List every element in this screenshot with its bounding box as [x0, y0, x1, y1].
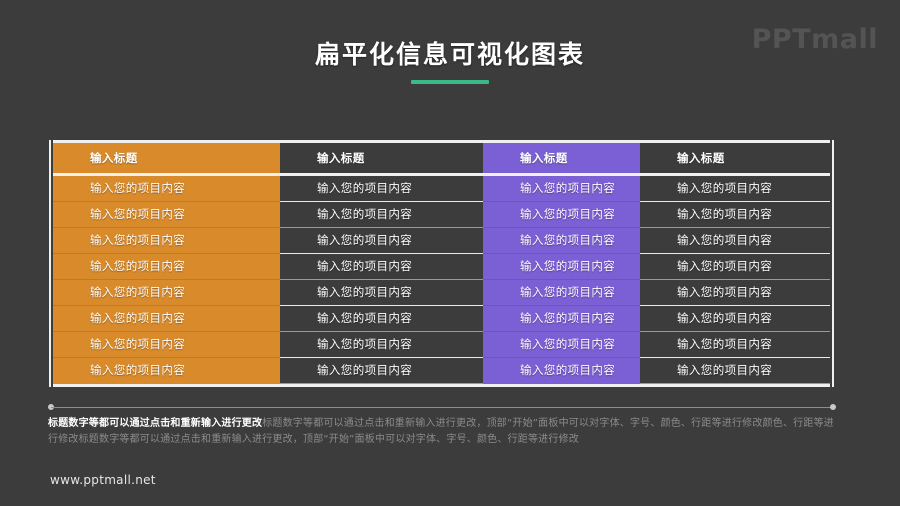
table-cell-text: 输入您的项目内容 — [640, 358, 830, 383]
footer-note-lead: 标题数字等都可以通过点击和重新输入进行更改 — [48, 418, 262, 429]
table-cell[interactable]: 输入您的项目内容 — [483, 280, 640, 306]
table-cell[interactable]: 输入您的项目内容 — [53, 280, 280, 306]
table-row[interactable]: 输入您的项目内容输入您的项目内容输入您的项目内容输入您的项目内容 — [53, 280, 830, 306]
table-cell-text: 输入您的项目内容 — [280, 332, 483, 357]
table-cell[interactable]: 输入您的项目内容 — [640, 306, 830, 332]
table-cell-text: 输入您的项目内容 — [483, 332, 640, 357]
table-cell[interactable]: 输入您的项目内容 — [53, 202, 280, 228]
table-cell[interactable]: 输入您的项目内容 — [483, 254, 640, 280]
page-title: 扁平化信息可视化图表 — [0, 40, 900, 70]
table-cell[interactable]: 输入您的项目内容 — [280, 306, 483, 332]
table-row[interactable]: 输入您的项目内容输入您的项目内容输入您的项目内容输入您的项目内容 — [53, 175, 830, 202]
table-cell[interactable]: 输入您的项目内容 — [53, 332, 280, 358]
table-cell[interactable]: 输入您的项目内容 — [483, 228, 640, 254]
table-row[interactable]: 输入您的项目内容输入您的项目内容输入您的项目内容输入您的项目内容 — [53, 332, 830, 358]
table-cell-text: 输入您的项目内容 — [483, 254, 640, 279]
divider-dot-right — [830, 404, 836, 410]
title-block: 扁平化信息可视化图表 — [0, 40, 900, 84]
table-cell-text: 输入您的项目内容 — [53, 306, 280, 331]
table-cell-text: 输入您的项目内容 — [483, 176, 640, 201]
table-header-label: 输入标题 — [483, 143, 640, 173]
table-cell-text: 输入您的项目内容 — [640, 176, 830, 201]
table-cell-text: 输入您的项目内容 — [640, 254, 830, 279]
table-cell[interactable]: 输入您的项目内容 — [640, 228, 830, 254]
table-cell[interactable]: 输入您的项目内容 — [53, 228, 280, 254]
table-row[interactable]: 输入您的项目内容输入您的项目内容输入您的项目内容输入您的项目内容 — [53, 358, 830, 384]
site-url: www.pptmall.net — [50, 473, 156, 487]
table-cell-text: 输入您的项目内容 — [483, 280, 640, 305]
table-cell[interactable]: 输入您的项目内容 — [53, 254, 280, 280]
table-cell[interactable]: 输入您的项目内容 — [280, 358, 483, 384]
table-cell[interactable]: 输入您的项目内容 — [640, 358, 830, 384]
table-row[interactable]: 输入您的项目内容输入您的项目内容输入您的项目内容输入您的项目内容 — [53, 306, 830, 332]
table-cell[interactable]: 输入您的项目内容 — [280, 228, 483, 254]
table-cell[interactable]: 输入您的项目内容 — [640, 254, 830, 280]
table-cell[interactable]: 输入您的项目内容 — [53, 358, 280, 384]
table-cell-text: 输入您的项目内容 — [640, 306, 830, 331]
table-cell[interactable]: 输入您的项目内容 — [53, 175, 280, 202]
title-underline — [411, 80, 489, 84]
table-header-label: 输入标题 — [53, 143, 280, 173]
table-cell-text: 输入您的项目内容 — [280, 228, 483, 253]
table-cell-text: 输入您的项目内容 — [483, 202, 640, 227]
table-cell-text: 输入您的项目内容 — [280, 358, 483, 383]
table-cell-text: 输入您的项目内容 — [640, 332, 830, 357]
table-header-cell: 输入标题 — [483, 143, 640, 175]
table-cell[interactable]: 输入您的项目内容 — [483, 358, 640, 384]
divider-line — [51, 407, 833, 408]
table: 输入标题输入标题输入标题输入标题输入您的项目内容输入您的项目内容输入您的项目内容… — [53, 143, 830, 384]
table-cell[interactable]: 输入您的项目内容 — [280, 202, 483, 228]
table-cell-text: 输入您的项目内容 — [483, 306, 640, 331]
table-row[interactable]: 输入您的项目内容输入您的项目内容输入您的项目内容输入您的项目内容 — [53, 254, 830, 280]
table-cell[interactable]: 输入您的项目内容 — [640, 175, 830, 202]
table-cell[interactable]: 输入您的项目内容 — [483, 202, 640, 228]
table-cell-text: 输入您的项目内容 — [280, 176, 483, 201]
table-header-label: 输入标题 — [640, 143, 830, 173]
table-cell[interactable]: 输入您的项目内容 — [280, 175, 483, 202]
table-cell-text: 输入您的项目内容 — [53, 228, 280, 253]
table-cell-text: 输入您的项目内容 — [483, 358, 640, 383]
footer-note: 标题数字等都可以通过点击和重新输入进行更改标题数字等都可以通过点击和重新输入进行… — [48, 416, 838, 448]
table-cell[interactable]: 输入您的项目内容 — [483, 332, 640, 358]
table-cell-text: 输入您的项目内容 — [483, 228, 640, 253]
table-header-cell: 输入标题 — [280, 143, 483, 175]
slide-canvas: PPTmall 扁平化信息可视化图表 输入标题输入标题输入标题输入标题输入您的项… — [0, 0, 900, 506]
table-cell[interactable]: 输入您的项目内容 — [280, 332, 483, 358]
table-header-cell: 输入标题 — [640, 143, 830, 175]
table-row[interactable]: 输入您的项目内容输入您的项目内容输入您的项目内容输入您的项目内容 — [53, 228, 830, 254]
table-cell[interactable]: 输入您的项目内容 — [483, 306, 640, 332]
table-cell-text: 输入您的项目内容 — [53, 254, 280, 279]
table-cell-text: 输入您的项目内容 — [640, 202, 830, 227]
table-header-cell: 输入标题 — [53, 143, 280, 175]
table-cell-text: 输入您的项目内容 — [53, 202, 280, 227]
table-bottom-rule — [53, 384, 830, 387]
table-cell[interactable]: 输入您的项目内容 — [640, 332, 830, 358]
table-cell-text: 输入您的项目内容 — [280, 254, 483, 279]
table-cell[interactable]: 输入您的项目内容 — [280, 254, 483, 280]
table-row[interactable]: 输入您的项目内容输入您的项目内容输入您的项目内容输入您的项目内容 — [53, 202, 830, 228]
table-header-row: 输入标题输入标题输入标题输入标题 — [53, 143, 830, 175]
table-cell[interactable]: 输入您的项目内容 — [640, 202, 830, 228]
table-cell-text: 输入您的项目内容 — [53, 358, 280, 383]
data-table: 输入标题输入标题输入标题输入标题输入您的项目内容输入您的项目内容输入您的项目内容… — [53, 140, 830, 387]
table-cell-text: 输入您的项目内容 — [640, 280, 830, 305]
table-cell-text: 输入您的项目内容 — [280, 280, 483, 305]
table-cell-text: 输入您的项目内容 — [640, 228, 830, 253]
table-cell[interactable]: 输入您的项目内容 — [483, 175, 640, 202]
table-cell-text: 输入您的项目内容 — [53, 176, 280, 201]
table-cell[interactable]: 输入您的项目内容 — [53, 306, 280, 332]
table-cell-text: 输入您的项目内容 — [53, 332, 280, 357]
table-cell-text: 输入您的项目内容 — [53, 280, 280, 305]
table-cell-text: 输入您的项目内容 — [280, 306, 483, 331]
section-divider — [48, 406, 836, 409]
table-header-label: 输入标题 — [280, 143, 483, 173]
table-cell[interactable]: 输入您的项目内容 — [640, 280, 830, 306]
table-cell[interactable]: 输入您的项目内容 — [280, 280, 483, 306]
table-cell-text: 输入您的项目内容 — [280, 202, 483, 227]
